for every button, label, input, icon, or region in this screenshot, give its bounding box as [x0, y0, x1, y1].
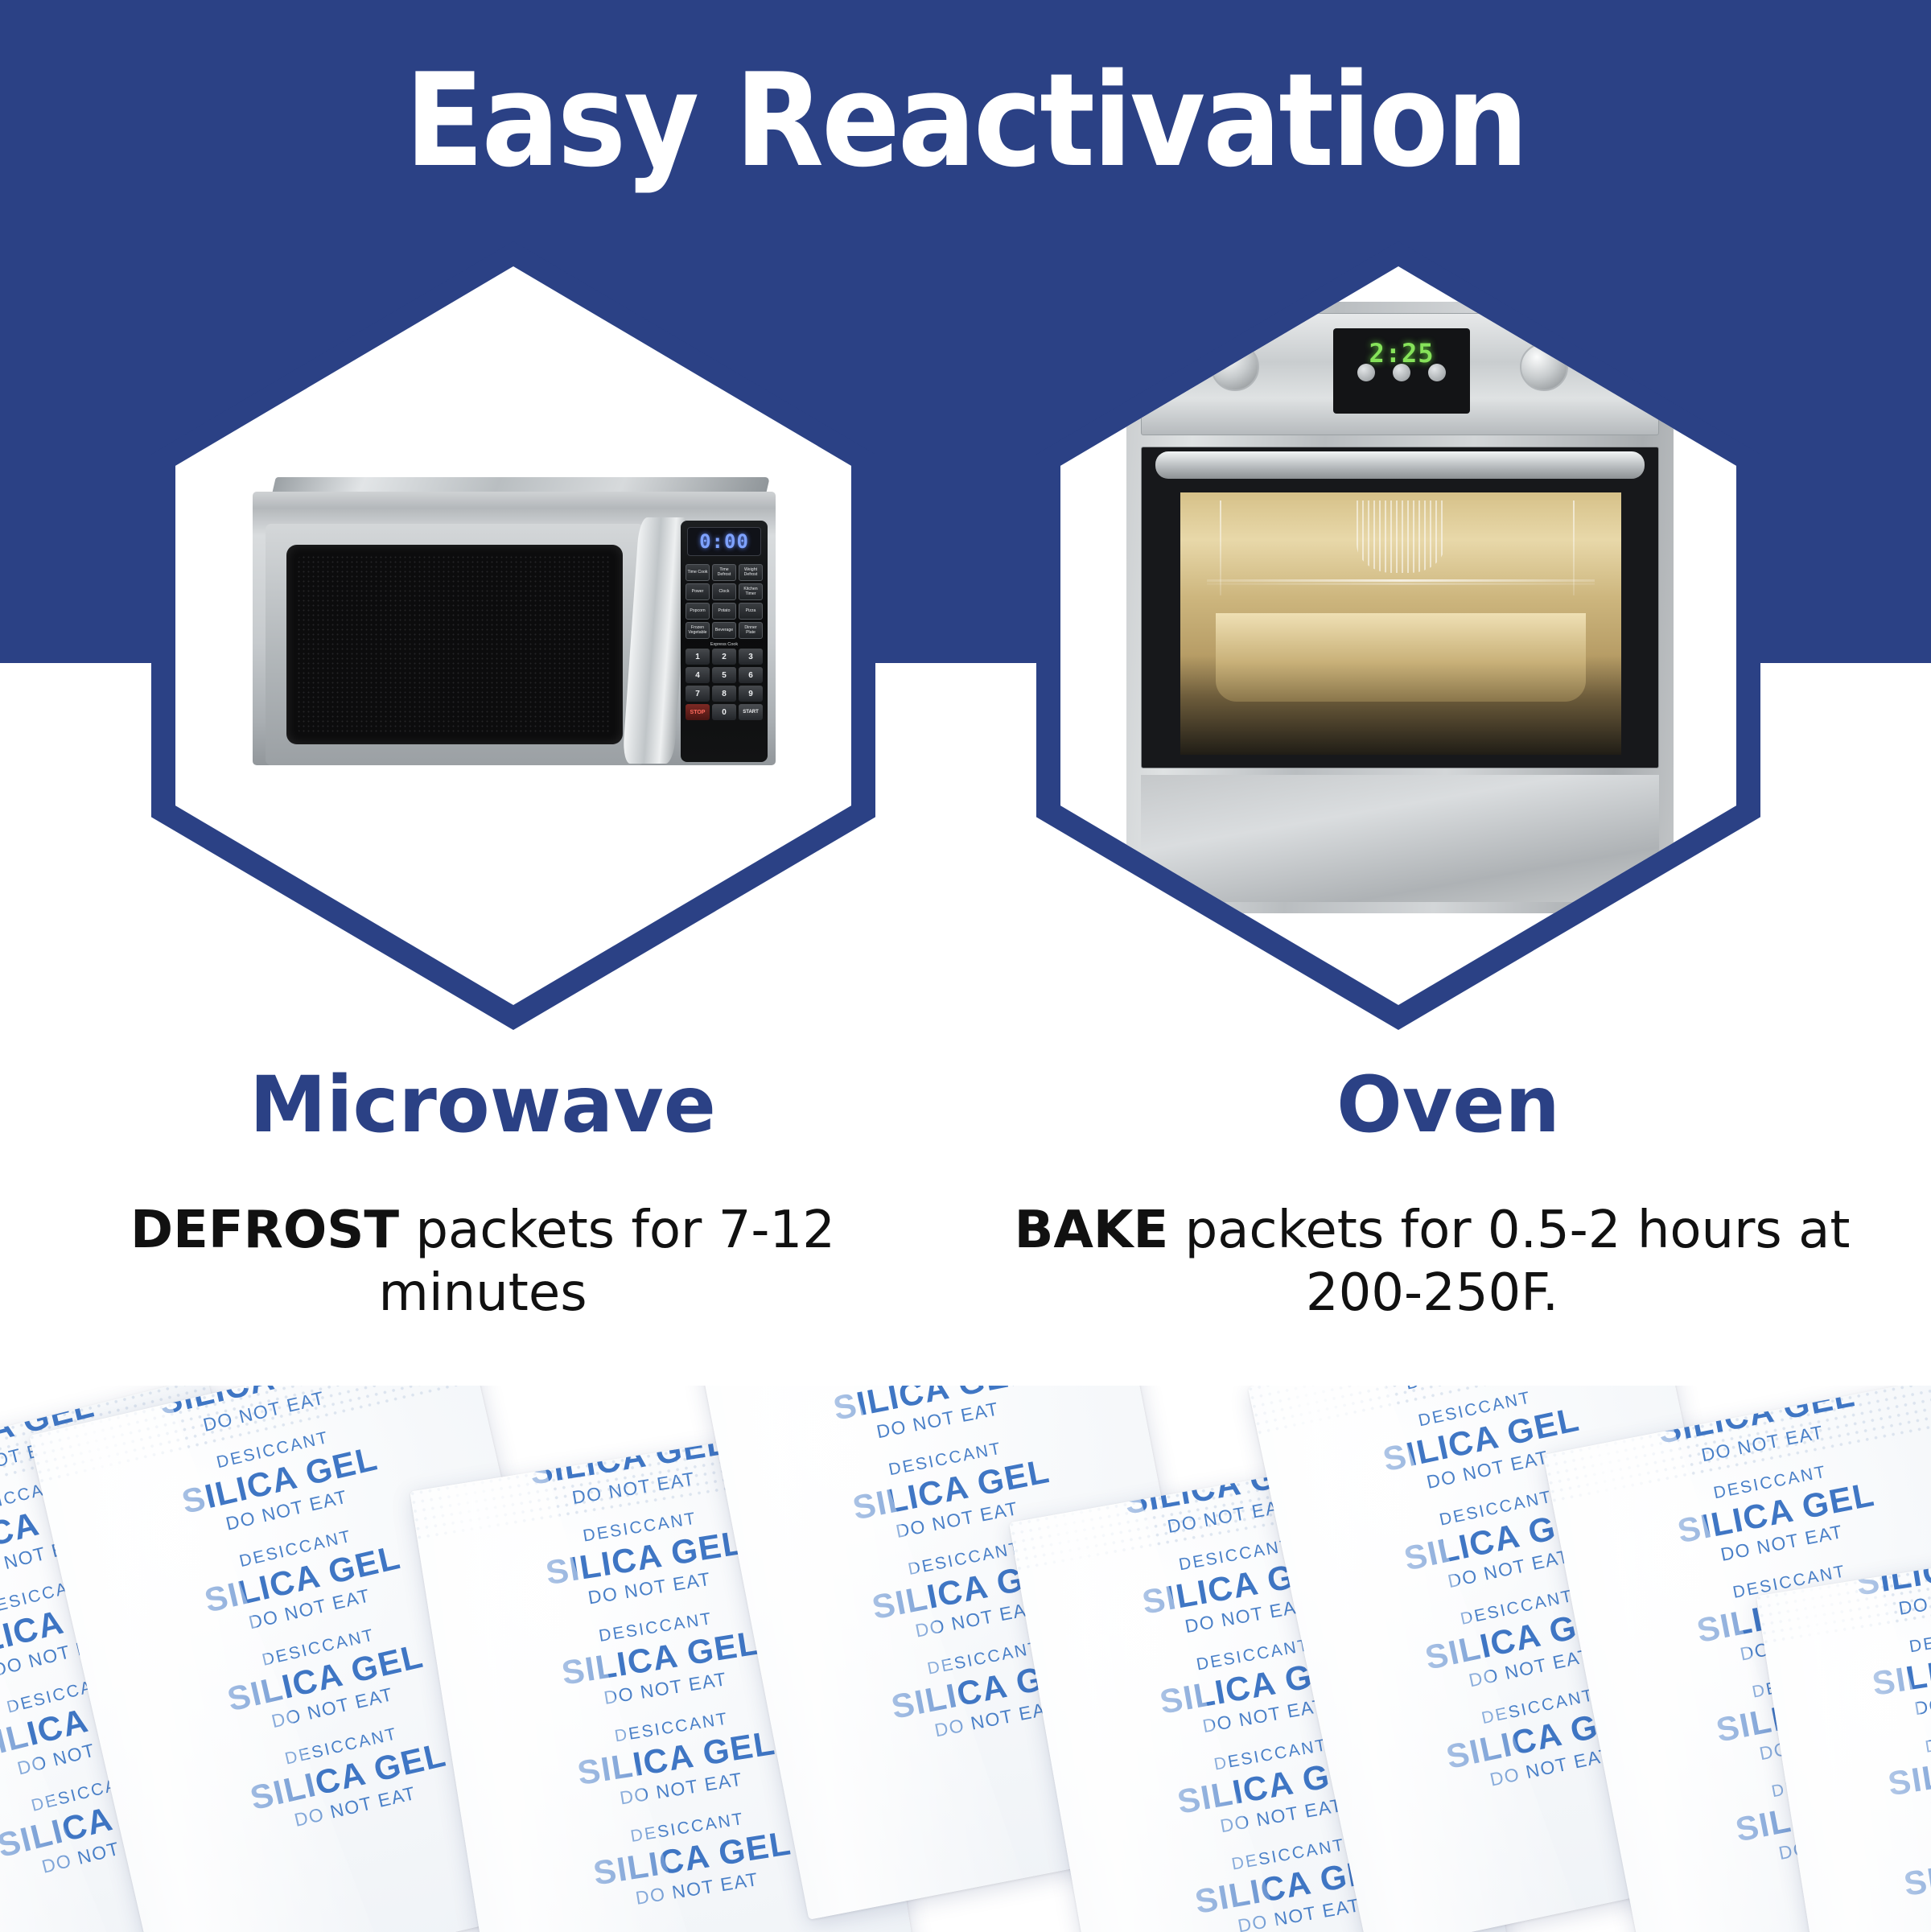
- oven-minus-button: [1393, 364, 1410, 381]
- microwave-button-power: Power: [686, 583, 710, 600]
- oven-rack: [1207, 579, 1595, 582]
- oven-rack-rail: [1573, 501, 1575, 595]
- microwave-button-time-cook: Time Cook: [686, 564, 710, 581]
- microwave-keypad: Time Cook Time Defrost Weight Defrost Po…: [686, 564, 763, 723]
- oven-lower-panel: [1141, 775, 1659, 902]
- instruction-rest-oven: packets for 0.5-2 hours at 200-250F.: [1168, 1201, 1850, 1323]
- oven-image: 2:25: [1126, 302, 1674, 913]
- oven-temperature-knob: [1520, 343, 1568, 391]
- oven-door-glass: [1141, 447, 1659, 768]
- microwave-button-beverage: Beverage: [712, 622, 736, 639]
- microwave-window: [286, 545, 623, 744]
- microwave-key-2: 2: [712, 649, 736, 665]
- microwave-key-1: 1: [686, 649, 710, 665]
- oven-indicator-light-right: [1533, 332, 1538, 337]
- microwave-number-row: 1 2 3: [686, 649, 763, 665]
- microwave-control-panel: 0:00 Time Cook Time Defrost Weight Defro…: [681, 521, 768, 762]
- microwave-button-row: Power Clock Kitchen Timer: [686, 583, 763, 600]
- oven-rack-rail: [1220, 501, 1221, 595]
- microwave-button-frozen-vegetable: Frozen Vegetable: [686, 622, 710, 639]
- microwave-start-button: START: [739, 704, 763, 720]
- microwave-key-4: 4: [686, 667, 710, 683]
- microwave-body: 0:00 Time Cook Time Defrost Weight Defro…: [253, 492, 776, 765]
- microwave-button-row: Time Cook Time Defrost Weight Defrost: [686, 564, 763, 581]
- microwave-button-row: Popcorn Potato Pizza: [686, 603, 763, 620]
- oven-cavity: [1180, 492, 1621, 755]
- instruction-rest-microwave: packets for 7-12 minutes: [378, 1201, 834, 1323]
- microwave-key-6: 6: [739, 667, 763, 683]
- microwave-display: 0:00: [687, 527, 761, 556]
- microwave-express-cook-label: Express Cook: [686, 642, 763, 647]
- microwave-button-pizza: Pizza: [739, 603, 763, 620]
- microwave-button-weight-defrost: Weight Defrost: [739, 564, 763, 581]
- silica-gel-packet-strip: DESICCANTSILICA GELDO NOT EATDESICCANTSI…: [0, 1386, 1931, 1932]
- oven-function-knob: [1211, 343, 1259, 391]
- infographic-canvas: Easy Reactivation 0:00: [0, 0, 1931, 1932]
- microwave-mesh: [298, 556, 611, 733]
- column-instruction-microwave: DEFROST packets for 7-12 minutes: [89, 1199, 877, 1324]
- column-title-oven: Oven: [965, 1066, 1931, 1143]
- microwave-button-time-defrost: Time Defrost: [712, 564, 736, 581]
- microwave-button-row: Frozen Vegetable Beverage Dinner Plate: [686, 622, 763, 639]
- microwave-number-row: 7 8 9: [686, 686, 763, 702]
- oven-clock-button: [1357, 364, 1375, 381]
- instruction-bold-oven: BAKE: [1015, 1201, 1169, 1260]
- column-instruction-oven: BAKE packets for 0.5-2 hours at 200-250F…: [1014, 1199, 1851, 1324]
- microwave-number-row: 4 5 6: [686, 667, 763, 683]
- microwave-key-9: 9: [739, 686, 763, 702]
- page-title: Easy Reactivation: [0, 56, 1931, 185]
- microwave-button-dinner-plate: Dinner Plate: [739, 622, 763, 639]
- microwave-action-row: STOP 0 START: [686, 704, 763, 720]
- microwave-stop-button: STOP: [686, 704, 710, 720]
- microwave-button-kitchen-timer: Kitchen Timer: [739, 583, 763, 600]
- microwave-button-popcorn: Popcorn: [686, 603, 710, 620]
- microwave-key-0: 0: [712, 704, 736, 720]
- column-title-microwave: Microwave: [0, 1066, 965, 1143]
- microwave-display-value: 0:00: [699, 530, 749, 553]
- oven-plus-button: [1428, 364, 1446, 381]
- oven-rack-shadow: [1207, 583, 1595, 585]
- instruction-bold-microwave: DEFROST: [130, 1201, 399, 1260]
- microwave-key-7: 7: [686, 686, 710, 702]
- microwave-key-8: 8: [712, 686, 736, 702]
- microwave-key-3: 3: [739, 649, 763, 665]
- oven-heating-element: [1357, 501, 1445, 573]
- microwave-door: [266, 524, 644, 765]
- microwave-key-5: 5: [712, 667, 736, 683]
- microwave-button-clock: Clock: [712, 583, 736, 600]
- microwave-button-potato: Potato: [712, 603, 736, 620]
- oven-baking-tray: [1216, 613, 1586, 702]
- microwave-image: 0:00 Time Cook Time Defrost Weight Defro…: [253, 477, 776, 765]
- oven-door-handle: [1155, 451, 1645, 479]
